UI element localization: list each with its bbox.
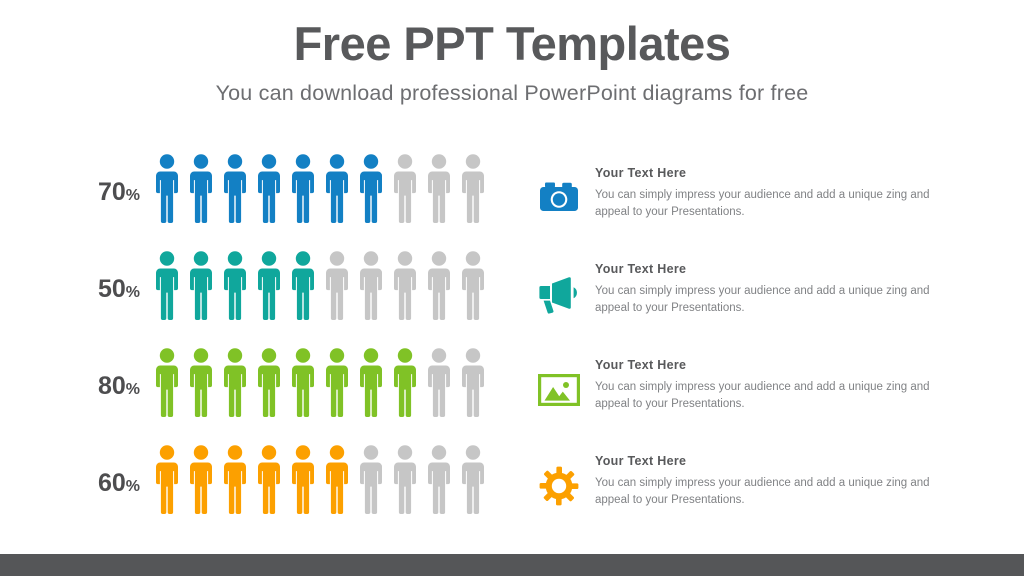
info-description: You can simply impress your audience and… [595, 379, 955, 412]
info-block: Your Text HereYou can simply impress you… [534, 256, 1004, 352]
page-title: Free PPT Templates [0, 18, 1024, 71]
percent-value: 70 [98, 178, 126, 206]
percent-symbol: % [126, 478, 140, 495]
person-icon-empty [359, 444, 383, 514]
person-icon-filled [291, 347, 315, 417]
info-block: Your Text HereYou can simply impress you… [534, 352, 1004, 448]
person-icon-empty [461, 347, 485, 417]
percent-label: 80% [78, 374, 140, 399]
slide-header: Free PPT Templates You can download prof… [0, 18, 1024, 106]
person-icon-filled [325, 444, 349, 514]
percent-label: 70% [78, 180, 140, 205]
person-icon-filled [393, 347, 417, 417]
person-icon-filled [223, 153, 247, 223]
info-list: Your Text HereYou can simply impress you… [534, 160, 1004, 544]
person-icon-empty [427, 153, 451, 223]
person-icon-empty [461, 153, 485, 223]
person-icon-empty [393, 153, 417, 223]
percent-label: 60% [78, 471, 140, 496]
person-icon-filled [257, 444, 281, 514]
person-icon-empty [325, 250, 349, 320]
person-icon-filled [257, 250, 281, 320]
person-icon-empty [359, 250, 383, 320]
person-icon-group [155, 153, 485, 223]
info-title: Your Text Here [595, 454, 995, 468]
person-icon-filled [155, 250, 179, 320]
person-icon-empty [427, 347, 451, 417]
info-body: Your Text HereYou can simply impress you… [595, 262, 995, 316]
person-icon-empty [427, 250, 451, 320]
person-icon-group [155, 444, 485, 514]
percent-symbol: % [126, 284, 140, 301]
info-block: Your Text HereYou can simply impress you… [534, 160, 1004, 256]
slide-canvas: Free PPT Templates You can download prof… [0, 0, 1024, 576]
person-icon-filled [223, 347, 247, 417]
percent-value: 80 [98, 372, 126, 400]
percent-symbol: % [126, 187, 140, 204]
info-body: Your Text HereYou can simply impress you… [595, 358, 995, 412]
person-icon-filled [189, 250, 213, 320]
person-icon-filled [291, 250, 315, 320]
person-icon-group [155, 347, 485, 417]
person-icon-filled [155, 347, 179, 417]
info-body: Your Text HereYou can simply impress you… [595, 166, 995, 220]
info-body: Your Text HereYou can simply impress you… [595, 454, 995, 508]
info-block: Your Text HereYou can simply impress you… [534, 448, 1004, 544]
footer-bar [0, 554, 1024, 576]
image-icon [537, 370, 581, 410]
person-icon-filled [189, 444, 213, 514]
person-icon-filled [291, 153, 315, 223]
person-icon-filled [257, 347, 281, 417]
person-icon-filled [325, 347, 349, 417]
person-icon-filled [189, 347, 213, 417]
percent-symbol: % [126, 381, 140, 398]
person-icon-group [155, 250, 485, 320]
percent-value: 50 [98, 275, 126, 303]
person-icon-filled [223, 250, 247, 320]
info-title: Your Text Here [595, 358, 995, 372]
person-icon-filled [155, 444, 179, 514]
person-icon-filled [291, 444, 315, 514]
info-title: Your Text Here [595, 262, 995, 276]
camera-icon [537, 178, 581, 218]
person-icon-filled [359, 347, 383, 417]
person-icon-empty [393, 250, 417, 320]
person-icon-empty [393, 444, 417, 514]
person-icon-filled [223, 444, 247, 514]
info-description: You can simply impress your audience and… [595, 475, 955, 508]
info-description: You can simply impress your audience and… [595, 187, 955, 220]
person-icon-empty [461, 250, 485, 320]
megaphone-icon [537, 274, 581, 314]
person-icon-filled [189, 153, 213, 223]
info-title: Your Text Here [595, 166, 995, 180]
person-icon-filled [155, 153, 179, 223]
page-subtitle: You can download professional PowerPoint… [0, 81, 1024, 106]
person-icon-empty [461, 444, 485, 514]
person-icon-filled [359, 153, 383, 223]
percent-label: 50% [78, 277, 140, 302]
person-icon-empty [427, 444, 451, 514]
percent-value: 60 [98, 469, 126, 497]
gear-icon [537, 466, 581, 506]
person-icon-filled [325, 153, 349, 223]
person-icon-filled [257, 153, 281, 223]
info-description: You can simply impress your audience and… [595, 283, 955, 316]
